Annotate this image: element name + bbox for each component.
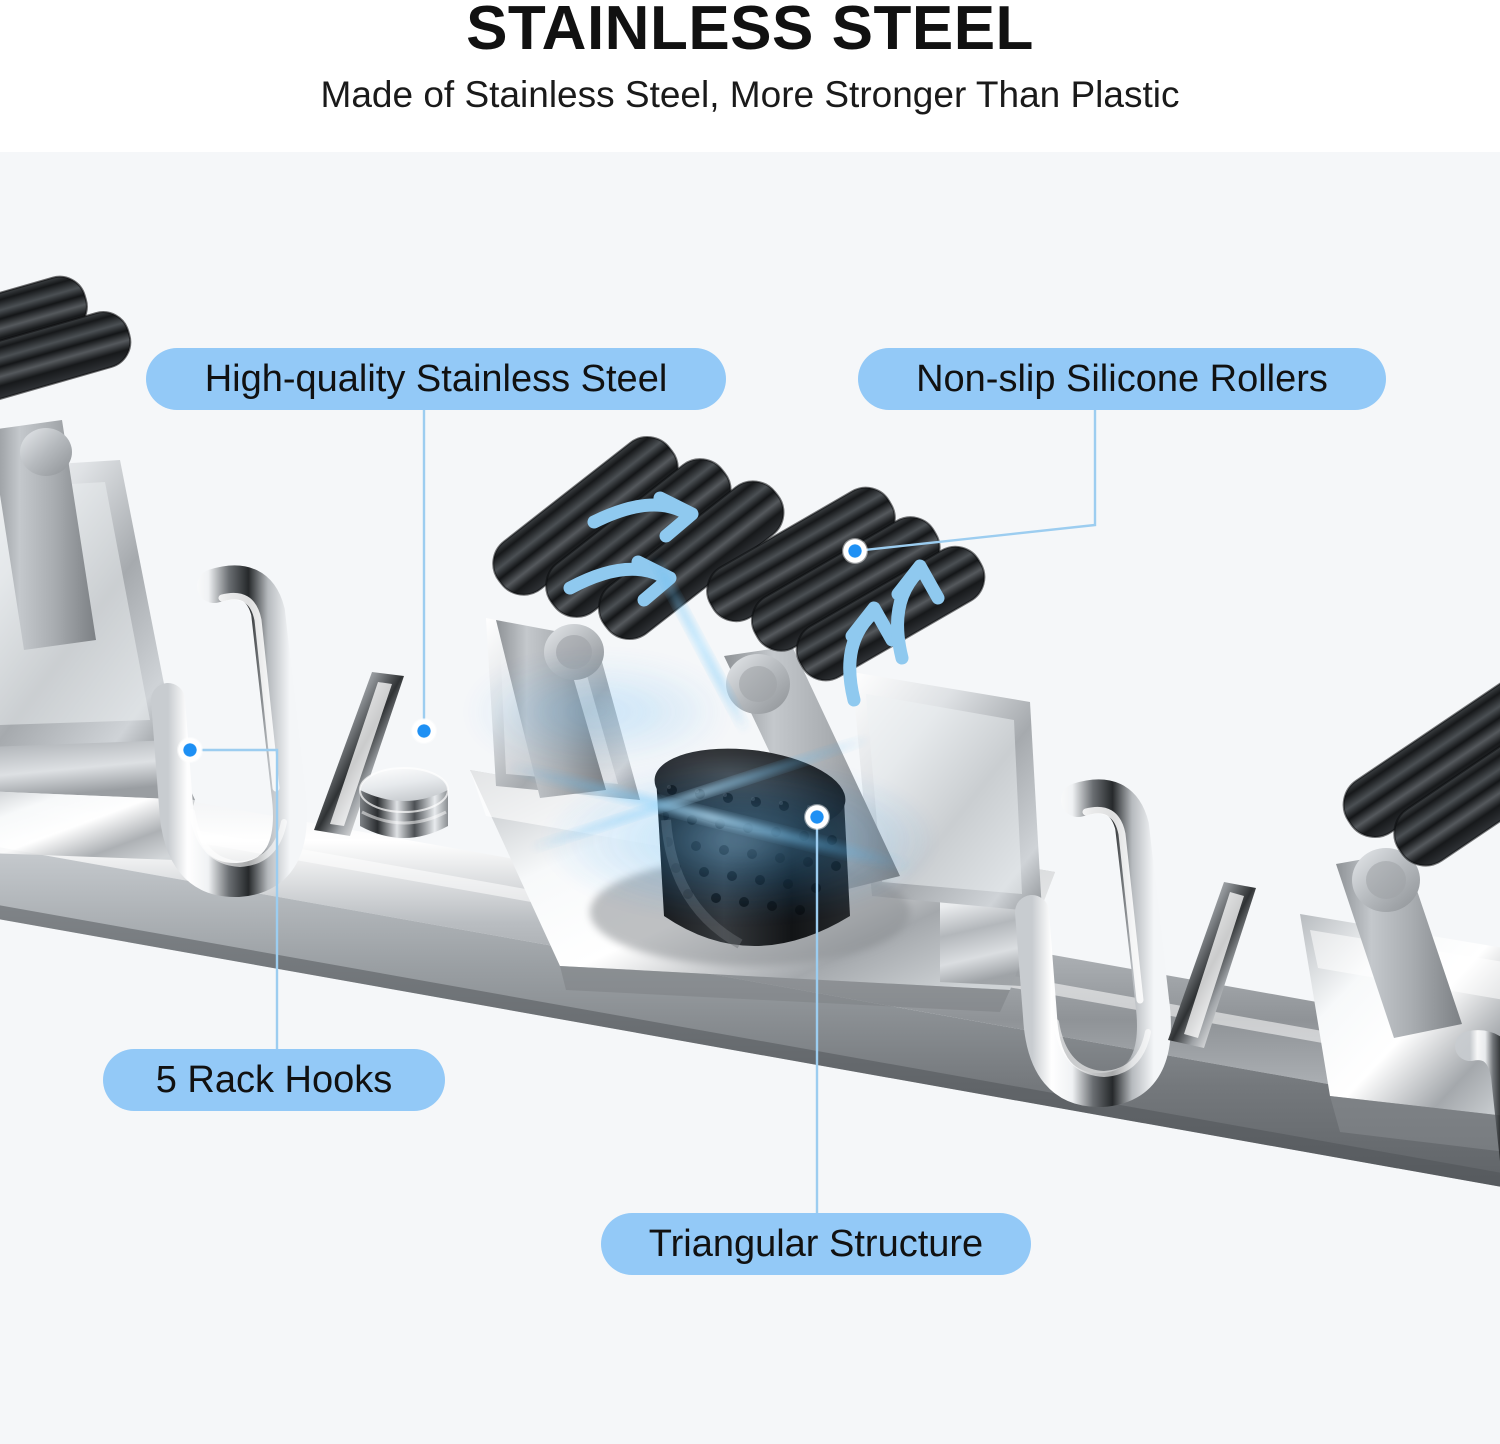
callout-label: Triangular Structure <box>649 1225 983 1263</box>
header-banner: STAINLESS STEEL Made of Stainless Steel,… <box>0 0 1500 152</box>
callout-5-rack-hooks: 5 Rack Hooks <box>103 1049 445 1111</box>
page-subtitle: Made of Stainless Steel, More Stronger T… <box>0 72 1500 118</box>
callout-high-quality-stainless-steel: High-quality Stainless Steel <box>146 348 726 410</box>
screw-cap <box>360 768 448 838</box>
marker-dot-rollers <box>842 538 868 564</box>
callout-label: 5 Rack Hooks <box>156 1061 393 1099</box>
callout-label: High-quality Stainless Steel <box>205 360 668 398</box>
marker-dot-steel <box>411 718 437 744</box>
marker-dot-hooks <box>177 737 203 763</box>
callout-non-slip-silicone-rollers: Non-slip Silicone Rollers <box>858 348 1386 410</box>
page-title: STAINLESS STEEL <box>0 0 1500 60</box>
callout-triangular-structure: Triangular Structure <box>601 1213 1031 1275</box>
marker-dot-triangular <box>804 804 830 830</box>
callout-label: Non-slip Silicone Rollers <box>916 360 1328 398</box>
